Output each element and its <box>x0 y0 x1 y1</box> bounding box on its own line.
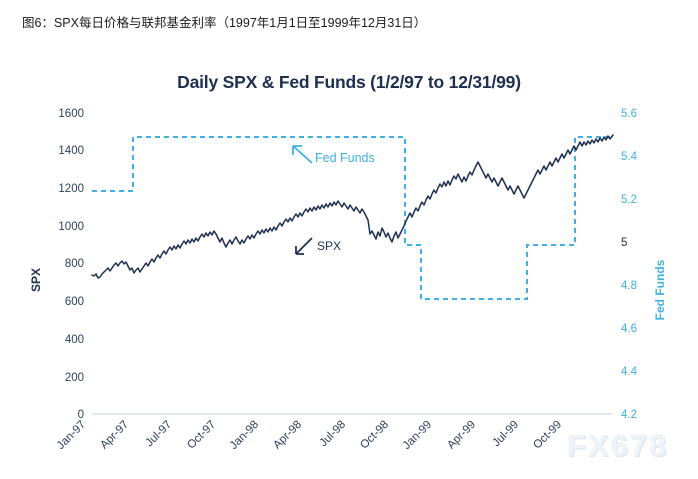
xtick-apr-98: Apr-98 <box>271 419 304 452</box>
spx-annotation: SPX <box>296 238 341 254</box>
ytick-200: 200 <box>65 372 84 384</box>
y2tick-4-6: 4.6 <box>621 323 637 335</box>
y2tick-5-4: 5.4 <box>621 151 638 163</box>
y2tick-4-4: 4.4 <box>621 366 638 378</box>
xtick-oct-97: Oct-97 <box>185 419 218 452</box>
xtick-jul-98: Jul-98 <box>317 419 348 450</box>
xtick-oct-98: Oct-98 <box>358 419 391 452</box>
y2tick-5: 5 <box>621 237 627 249</box>
spx-arrow-icon <box>296 238 312 254</box>
x-axis-tick-labels: Jan-97 Apr-97 Jul-97 Oct-97 Jan-98 Apr-9… <box>55 419 564 452</box>
right-axis-title: Fed Funds <box>653 259 667 320</box>
y2tick-4-8: 4.8 <box>621 280 637 292</box>
xtick-jan-97: Jan-97 <box>55 419 88 452</box>
ytick-1200: 1200 <box>58 183 84 195</box>
y2tick-4-2: 4.2 <box>621 409 637 421</box>
left-axis-title: SPX <box>29 268 43 292</box>
xtick-jan-99: Jan-99 <box>401 419 434 452</box>
xtick-jan-98: Jan-98 <box>228 419 261 452</box>
ytick-400: 400 <box>65 334 84 346</box>
fed-funds-annotation-label: Fed Funds <box>315 151 375 165</box>
xtick-apr-99: Apr-99 <box>445 419 478 452</box>
xtick-jul-99: Jul-99 <box>490 419 521 450</box>
ytick-600: 600 <box>65 296 84 308</box>
ytick-1400: 1400 <box>58 145 84 157</box>
fed-funds-annotation: Fed Funds <box>293 146 375 165</box>
right-axis-tick-labels: 5.6 5.4 5.2 5 4.8 4.6 4.4 4.2 <box>621 108 638 421</box>
y2tick-5-2: 5.2 <box>621 194 637 206</box>
left-axis-tick-labels: 1600 1400 1200 1000 800 600 400 200 0 <box>58 108 84 421</box>
chart-svg: 1600 1400 1200 1000 800 600 400 200 0 SP… <box>0 0 698 479</box>
ytick-1000: 1000 <box>58 221 84 233</box>
y2tick-5-6: 5.6 <box>621 108 637 120</box>
fed-funds-arrow-icon <box>293 146 312 163</box>
xtick-jul-97: Jul-97 <box>143 419 174 450</box>
spx-annotation-label: SPX <box>317 239 341 253</box>
xtick-oct-99: Oct-99 <box>531 419 564 452</box>
ytick-800: 800 <box>65 258 84 270</box>
ytick-1600: 1600 <box>58 108 84 120</box>
xtick-apr-97: Apr-97 <box>98 419 131 452</box>
chart-plot-area: 1600 1400 1200 1000 800 600 400 200 0 SP… <box>0 0 698 479</box>
